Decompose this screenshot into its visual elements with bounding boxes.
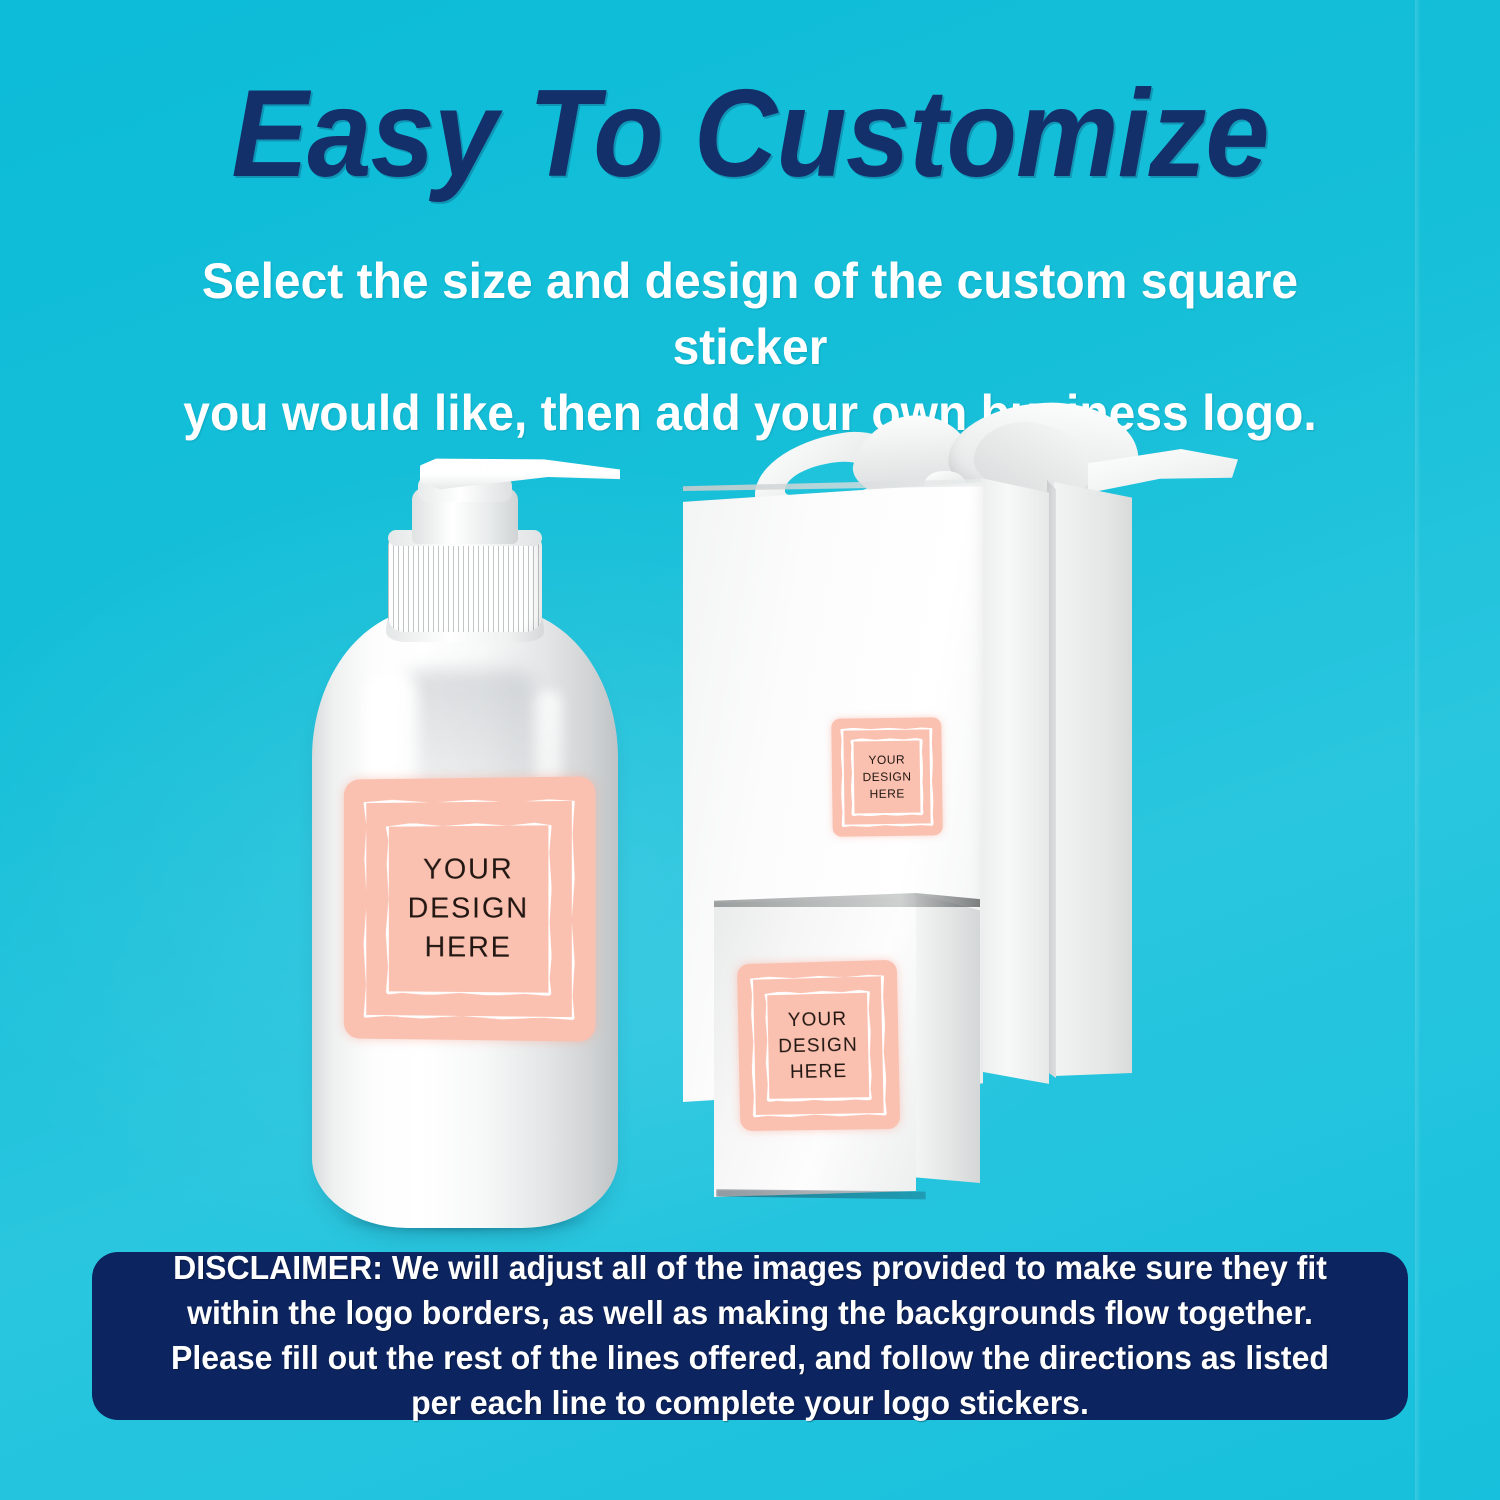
sticker-line-1: YOUR [344,850,595,890]
sticker-text: YOUR DESIGN HERE [738,1005,899,1086]
gift-box-side-panel-far [1054,482,1132,1082]
sticker-line-3: HERE [344,928,595,968]
small-box-side-panel [914,893,980,1183]
sticker-line-3: HERE [739,1057,899,1086]
disclaimer-label: DISCLAIMER: [173,1249,383,1286]
sticker-text: YOUR DESIGN HERE [344,850,595,968]
small-box-top-edge [714,893,980,907]
small-box-sticker[interactable]: YOUR DESIGN HERE [737,960,900,1131]
sticker-line-2: DESIGN [344,889,595,928]
pump-ribbed-collar [388,536,542,632]
promo-graphic: Easy To Customize Select the size and de… [0,0,1500,1500]
sticker-line-2: DESIGN [738,1031,898,1060]
gift-box-sticker[interactable]: YOUR DESIGN HERE [831,717,943,837]
gift-box-side-panel-near [981,478,1049,1090]
disclaimer-box: DISCLAIMER: We will adjust all of the im… [92,1252,1408,1420]
sticker-line-2: DESIGN [832,768,942,786]
sticker-text: YOUR DESIGN HERE [832,751,943,803]
bottle-label-sticker[interactable]: YOUR DESIGN HERE [344,776,595,1041]
sticker-line-1: YOUR [832,751,942,769]
sticker-line-1: YOUR [738,1005,898,1035]
disclaimer-text: DISCLAIMER: We will adjust all of the im… [149,1246,1352,1426]
sticker-line-3: HERE [832,785,942,803]
